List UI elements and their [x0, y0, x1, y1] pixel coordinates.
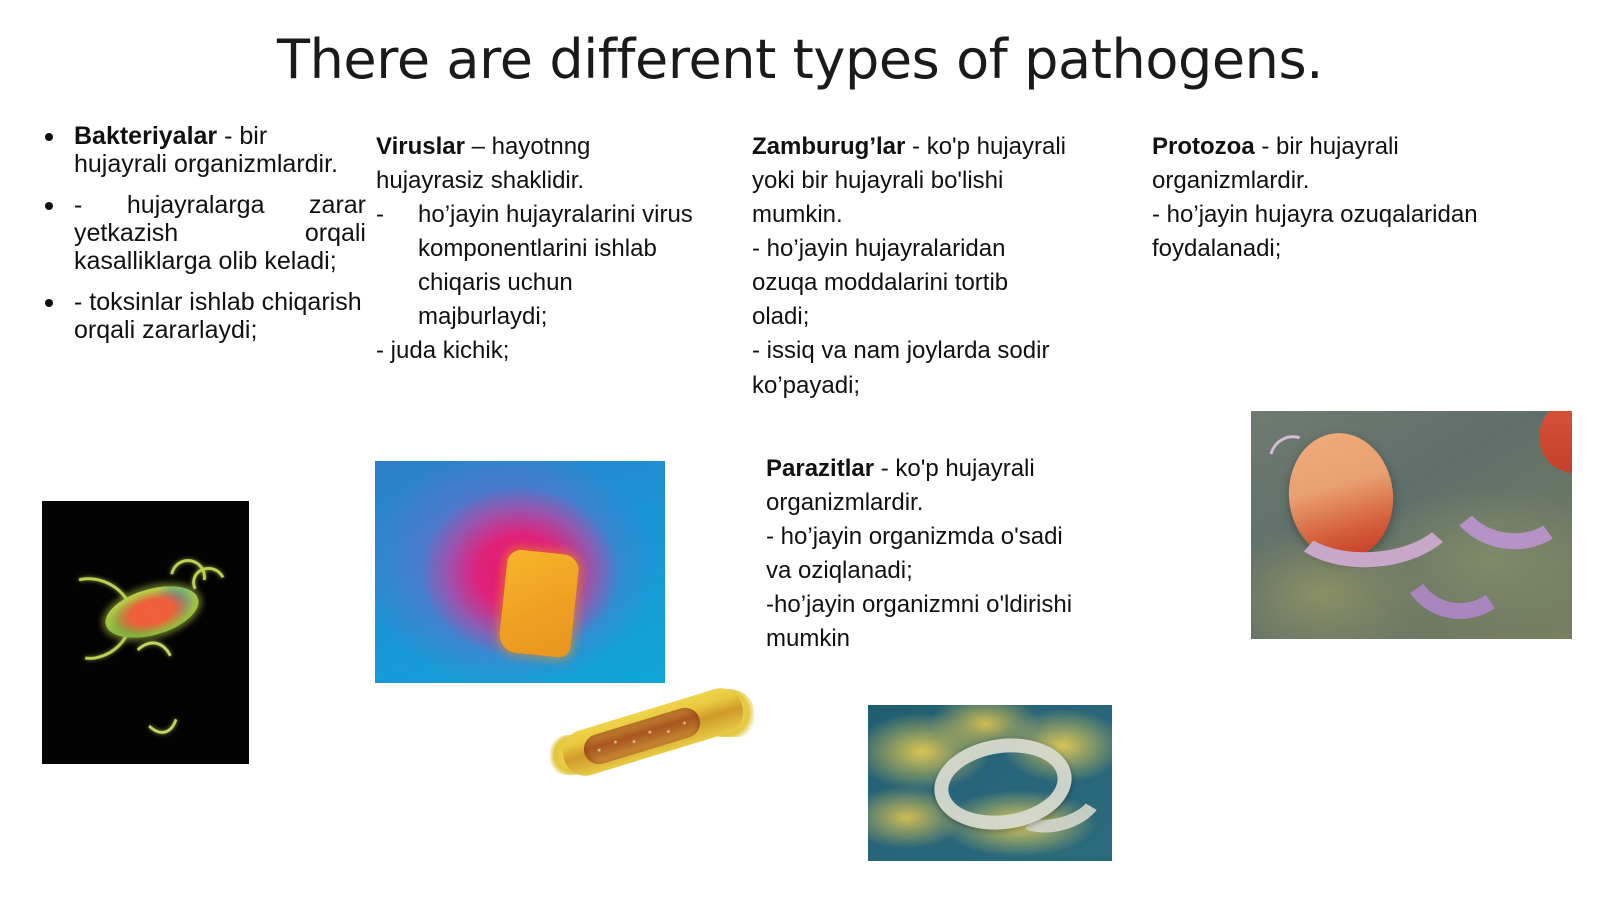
bacteria-line-1: Bakteriyalar - bir hujayrali organizmlar…: [74, 122, 366, 178]
bullet-dot-icon: [45, 133, 53, 141]
virus-dash-item: - ho’jayin hujayralarini virus komponent…: [376, 198, 696, 334]
virus-dash-text: ho’jayin hujayralarini virus komponentla…: [418, 201, 693, 330]
column-bacteria: Bakteriyalar - bir hujayrali organizmlar…: [36, 122, 366, 357]
rod-virus-image: [548, 683, 756, 783]
parasite-line-1: Parazitlar - ko'p hujayrali organizmlard…: [766, 452, 1086, 520]
column-protozoa: Protozoa - bir hujayrali organizmlardir.…: [1152, 130, 1482, 266]
dash-marker-icon: -: [376, 198, 384, 232]
presentation-slide: There are different types of pathogens. …: [0, 0, 1600, 899]
bullet-dot-icon: [45, 202, 53, 210]
bacteria-line-2: - hujayralarga zarar yetkazish orqali ka…: [74, 191, 366, 275]
virus-image: [375, 461, 665, 683]
virus-core-shape: [497, 549, 579, 659]
virus-line-1: Viruslar – hayotnng hujayrasiz shaklidir…: [376, 130, 696, 198]
protozoa-line-2: - ho’jayin hujayra ozuqalaridan foydalan…: [1152, 198, 1482, 266]
column-virus: Viruslar – hayotnng hujayrasiz shaklidir…: [376, 130, 696, 369]
fungi-line-2: - ho’jayin hujayralaridan ozuqa moddalar…: [752, 232, 1072, 334]
parasite-line-3: -ho’jayin organizmni o'ldirishi mumkin: [766, 588, 1086, 656]
term-viruslar: Viruslar: [376, 133, 465, 160]
page-title: There are different types of pathogens.: [0, 28, 1600, 91]
column-fungi: Zamburug’lar - ko'p hujayrali yoki bir h…: [752, 130, 1072, 403]
bullet-dot-icon: [45, 299, 53, 307]
term-parazitlar: Parazitlar: [766, 455, 874, 482]
term-bakteriyalar: Bakteriyalar: [74, 122, 217, 150]
column-parasite: Parazitlar - ko'p hujayrali organizmlard…: [766, 452, 1086, 656]
fungi-line-3: - issiq va nam joylarda sodir ko’payadi;: [752, 334, 1072, 402]
virus-last-line: - juda kichik;: [376, 334, 696, 368]
fungi-line-1: Zamburug’lar - ko'p hujayrali yoki bir h…: [752, 130, 1072, 232]
term-zamburuglar: Zamburug’lar: [752, 133, 905, 160]
list-item: - toksinlar ishlab chiqarish orqali zara…: [36, 288, 366, 344]
protozoa-line-1: Protozoa - bir hujayrali organizmlardir.: [1152, 130, 1482, 198]
parasite-image: [868, 705, 1112, 861]
bacteria-image: [42, 501, 249, 764]
list-item: - hujayralarga zarar yetkazish orqali ka…: [36, 191, 366, 275]
bacteria-line-3: - toksinlar ishlab chiqarish orqali zara…: [74, 288, 366, 344]
list-item: Bakteriyalar - bir hujayrali organizmlar…: [36, 122, 366, 178]
term-protozoa: Protozoa: [1152, 133, 1255, 160]
parasite-line-2: - ho’jayin organizmda o'sadi va oziqlana…: [766, 520, 1086, 588]
protozoa-image: [1251, 411, 1572, 639]
